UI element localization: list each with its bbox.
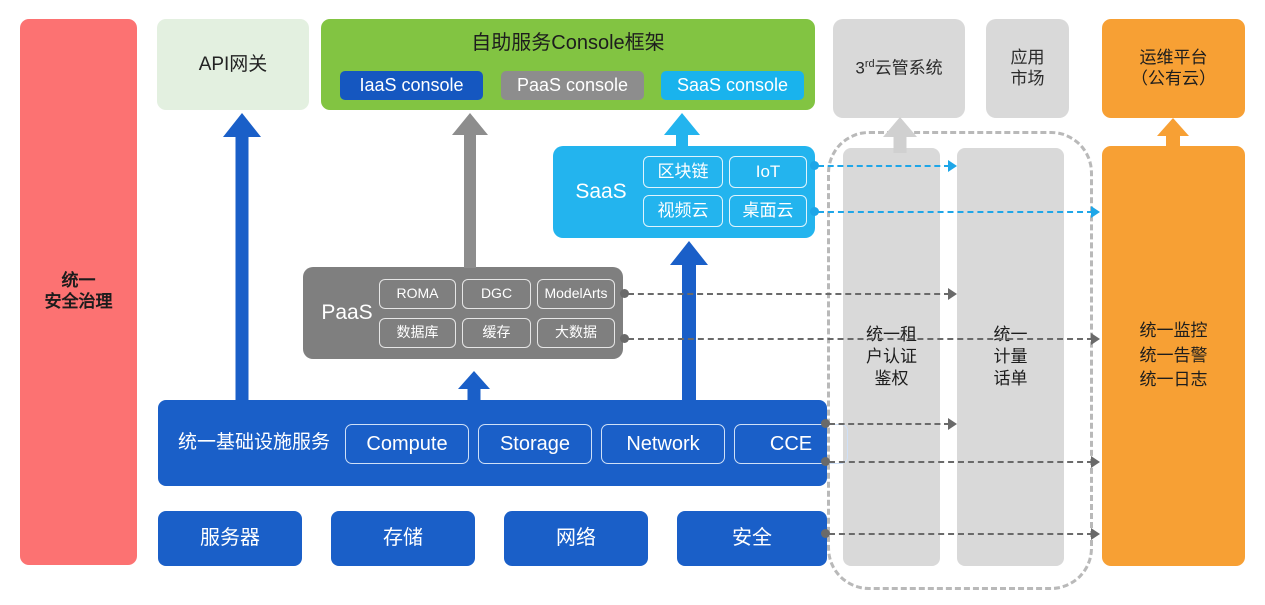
chip-iaas-console[interactable]: IaaS console <box>340 71 483 100</box>
paas-item-modelarts[interactable]: ModelArts <box>537 279 615 309</box>
security-governance-panel: 统一 安全治理 <box>20 19 137 565</box>
third-party-cloud-mgmt-suffix: 云管系统 <box>875 58 943 77</box>
flow-line-paas-to-ops <box>628 338 1093 340</box>
api-gateway-label: API网关 <box>199 53 268 76</box>
ops-platform-top-box: 运维平台 （公有云） <box>1102 19 1245 118</box>
unified-tenant-auth-line1: 统一租 <box>866 324 917 346</box>
ops-monitoring-line2: 统一告警 <box>1140 344 1208 369</box>
saas-layer-box: SaaS 区块链 IoT 视频云 桌面云 <box>553 146 815 238</box>
paas-item-bigdata-label: 大数据 <box>555 324 597 341</box>
saas-item-video-cloud[interactable]: 视频云 <box>643 195 723 227</box>
flow-line-iaas-to-ops <box>829 461 1093 463</box>
unified-tenant-auth-line2: 户认证 <box>866 346 917 368</box>
flow-arrowhead-hardware-to-ops <box>1091 528 1100 540</box>
console-framework-box: 自助服务Console框架 IaaS console PaaS console … <box>321 19 815 110</box>
arrow-iaas-to-saas <box>670 241 708 401</box>
unified-metering-line1: 统一 <box>994 324 1028 346</box>
paas-item-bigdata[interactable]: 大数据 <box>537 318 615 348</box>
hardware-item-network-label: 网络 <box>556 526 596 550</box>
paas-item-database[interactable]: 数据库 <box>379 318 456 348</box>
hardware-item-security[interactable]: 安全 <box>677 511 827 566</box>
chip-paas-console-label: PaaS console <box>517 75 628 97</box>
flow-arrowhead-iaas-to-auth <box>948 418 957 430</box>
ops-monitoring-panel: 统一监控 统一告警 统一日志 <box>1102 146 1245 566</box>
chip-iaas-console-label: IaaS console <box>359 75 463 97</box>
ops-platform-top-line2: （公有云） <box>1131 69 1216 90</box>
paas-item-cache[interactable]: 缓存 <box>462 318 531 348</box>
paas-item-modelarts-label: ModelArts <box>544 285 607 302</box>
hardware-item-security-label: 安全 <box>732 526 772 550</box>
arrow-to-ops-platform <box>1155 118 1191 150</box>
iaas-item-network-label: Network <box>626 432 699 456</box>
saas-item-iot-label: IoT <box>756 162 781 183</box>
iaas-item-storage-label: Storage <box>500 432 570 456</box>
chip-saas-console[interactable]: SaaS console <box>661 71 804 100</box>
hardware-item-server-label: 服务器 <box>200 526 260 550</box>
third-party-cloud-mgmt-prefix: 3 <box>855 58 864 77</box>
flow-line-hardware-to-ops <box>829 533 1093 535</box>
arrow-to-third-party-cloud-mgmt <box>882 117 918 153</box>
hardware-item-network[interactable]: 网络 <box>504 511 648 566</box>
security-governance-line2: 安全治理 <box>45 292 113 313</box>
saas-layer-label: SaaS <box>565 146 637 238</box>
saas-item-desktop-cloud-label: 桌面云 <box>743 201 794 222</box>
saas-item-iot[interactable]: IoT <box>729 156 807 188</box>
flow-line-paas-to-auth <box>628 293 950 295</box>
flow-arrowhead-paas-to-auth <box>948 288 957 300</box>
iaas-item-storage[interactable]: Storage <box>478 424 592 464</box>
arrow-paas-to-console <box>452 113 488 268</box>
hardware-item-server[interactable]: 服务器 <box>158 511 302 566</box>
app-market-box: 应用 市场 <box>986 19 1069 118</box>
unified-metering-line2: 计量 <box>994 346 1028 368</box>
iaas-layer-label: 统一基础设施服务 <box>178 400 330 486</box>
third-party-cloud-mgmt-box: 3rd云管系统 <box>833 19 965 118</box>
iaas-item-cce[interactable]: CCE <box>734 424 848 464</box>
api-gateway-box: API网关 <box>157 19 309 110</box>
paas-item-roma-label: ROMA <box>397 285 439 302</box>
third-party-cloud-mgmt-sup: rd <box>865 58 875 70</box>
flow-arrowhead-saas-to-metering <box>948 160 957 172</box>
flow-line-iaas-to-auth <box>829 423 950 425</box>
third-party-cloud-mgmt-label: 3rd云管系统 <box>855 58 942 79</box>
paas-item-dgc[interactable]: DGC <box>462 279 531 309</box>
arrow-iaas-to-api-gateway <box>223 113 261 401</box>
paas-item-database-label: 数据库 <box>397 324 439 341</box>
iaas-layer-box: 统一基础设施服务 Compute Storage Network CCE <box>158 400 827 486</box>
paas-item-roma[interactable]: ROMA <box>379 279 456 309</box>
saas-item-desktop-cloud[interactable]: 桌面云 <box>729 195 807 227</box>
saas-item-blockchain-label: 区块链 <box>658 162 709 183</box>
flow-line-saas-to-metering <box>818 165 950 167</box>
ops-platform-top-line1: 运维平台 <box>1131 48 1216 69</box>
arrow-iaas-to-paas <box>456 371 492 401</box>
saas-item-video-cloud-label: 视频云 <box>658 201 709 222</box>
unified-tenant-auth-line3: 鉴权 <box>866 368 917 390</box>
paas-item-dgc-label: DGC <box>481 285 512 302</box>
saas-item-blockchain[interactable]: 区块链 <box>643 156 723 188</box>
architecture-diagram: 统一 安全治理 API网关 自助服务Console框架 IaaS console… <box>0 0 1265 605</box>
paas-layer-label: PaaS <box>311 267 383 359</box>
ops-monitoring-line3: 统一日志 <box>1140 368 1208 393</box>
iaas-item-compute-label: Compute <box>366 432 447 456</box>
chip-paas-console[interactable]: PaaS console <box>501 71 644 100</box>
security-governance-line1: 统一 <box>45 271 113 292</box>
flow-arrowhead-paas-to-ops <box>1091 333 1100 345</box>
paas-layer-box: PaaS ROMA DGC ModelArts 数据库 缓存 大数据 <box>303 267 623 359</box>
flow-arrowhead-iaas-to-ops <box>1091 456 1100 468</box>
app-market-line1: 应用 <box>1011 48 1045 69</box>
chip-saas-console-label: SaaS console <box>677 75 788 97</box>
iaas-item-compute[interactable]: Compute <box>345 424 469 464</box>
console-framework-title: 自助服务Console框架 <box>321 31 815 55</box>
iaas-item-network[interactable]: Network <box>601 424 725 464</box>
app-market-line2: 市场 <box>1011 69 1045 90</box>
arrow-saas-to-console <box>664 113 700 149</box>
hardware-item-storage-label: 存储 <box>383 526 423 550</box>
flow-line-saas-to-ops <box>818 211 1093 213</box>
unified-metering-line3: 话单 <box>994 368 1028 390</box>
hardware-item-storage[interactable]: 存储 <box>331 511 475 566</box>
flow-arrowhead-saas-to-ops <box>1091 206 1100 218</box>
iaas-item-cce-label: CCE <box>770 432 812 456</box>
ops-monitoring-line1: 统一监控 <box>1140 319 1208 344</box>
paas-item-cache-label: 缓存 <box>483 324 511 341</box>
